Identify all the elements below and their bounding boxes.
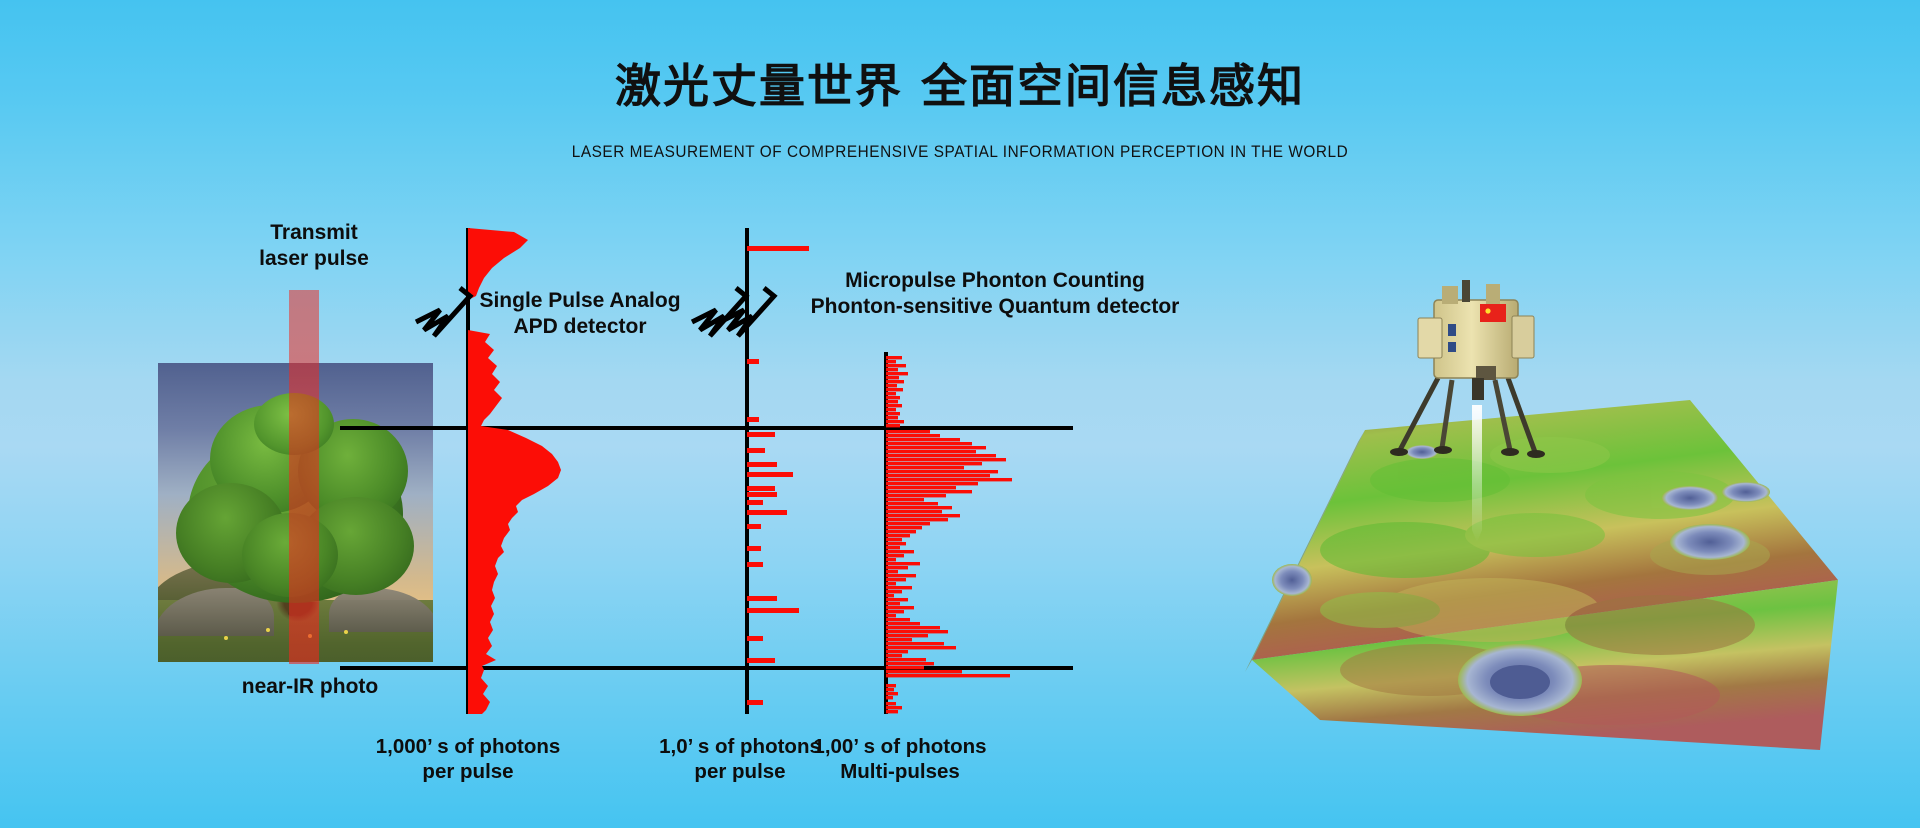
- histogram-bar: [886, 396, 900, 399]
- histogram-bar: [886, 514, 960, 517]
- caption-photons-per-pulse-a: 1,000’ s of photons per pulse: [338, 734, 598, 784]
- histogram-bar: [886, 490, 972, 493]
- histogram-bar: [886, 650, 908, 653]
- histogram-bar: [886, 526, 922, 529]
- crater: [1670, 524, 1750, 560]
- histogram-bar: [747, 524, 761, 529]
- histogram-bar: [747, 562, 763, 567]
- histogram-bar: [886, 538, 902, 541]
- histogram-bar: [747, 700, 763, 705]
- histogram-bar: [886, 522, 930, 525]
- histogram-bar: [747, 510, 787, 515]
- histogram-bar: [886, 658, 926, 661]
- histogram-bar: [886, 474, 990, 477]
- histogram-bar: [886, 482, 978, 485]
- lunar-lander-terrain-scene: [1190, 280, 1900, 750]
- histogram-bar: [886, 578, 906, 581]
- histogram-bar: [886, 662, 934, 665]
- histogram-bar: [886, 566, 908, 569]
- histogram-bar: [886, 420, 904, 423]
- histogram-bar: [886, 546, 900, 549]
- histogram-bar: [886, 372, 908, 375]
- histogram-bar: [886, 610, 904, 613]
- histogram-bar: [886, 506, 952, 509]
- histogram-bar: [747, 486, 775, 491]
- engine-plume: [1472, 405, 1482, 542]
- histogram-bar: [747, 432, 775, 437]
- histogram-bar: [747, 658, 775, 663]
- histogram-bar: [886, 706, 902, 709]
- histogram-bar: [886, 380, 904, 383]
- label-transmit-laser-pulse: Transmit laser pulse: [224, 220, 404, 271]
- histogram-bar: [886, 586, 912, 589]
- histogram-bar: [886, 498, 924, 501]
- axis-micropulse: [884, 352, 888, 714]
- histogram-bar: [886, 478, 1012, 481]
- page-title: 激光丈量世界 全面空间信息感知: [0, 50, 1920, 116]
- histogram-bar: [747, 636, 763, 641]
- histogram-bar: [886, 670, 962, 673]
- histogram-bar: [747, 492, 777, 497]
- histogram-bar: [886, 462, 982, 465]
- crater: [1662, 486, 1718, 510]
- histogram-bar: [886, 454, 996, 457]
- histogram-bar: [747, 472, 793, 477]
- histogram-bar: [886, 502, 938, 505]
- histogram-bar: [886, 458, 1006, 461]
- histogram-bar: [886, 634, 928, 637]
- histogram-bar: [886, 534, 910, 537]
- crater-floor: [1490, 665, 1550, 699]
- flower-dot: [266, 628, 270, 632]
- histogram-bar: [886, 518, 948, 521]
- histogram-bar: [886, 404, 902, 407]
- histogram-bar: [747, 462, 777, 467]
- histogram-bar: [886, 510, 942, 513]
- histogram-bar: [747, 596, 777, 601]
- histogram-bar: [747, 246, 809, 251]
- canopy-reference-line: [340, 426, 1073, 430]
- histogram-bar: [886, 598, 908, 601]
- label-near-ir-photo: near-IR photo: [210, 674, 410, 700]
- histogram-bar: [886, 388, 903, 391]
- histogram-bar: [886, 654, 902, 657]
- histogram-bar: [886, 626, 940, 629]
- stone-wall-right: [329, 588, 433, 632]
- histogram-bar: [886, 466, 964, 469]
- histogram-bar: [886, 646, 956, 649]
- histogram-bar: [886, 562, 920, 565]
- histogram-bar: [886, 590, 902, 593]
- histogram-bar: [886, 446, 986, 449]
- histogram-bar: [886, 554, 904, 557]
- crater: [1272, 564, 1312, 596]
- histogram-bar: [886, 412, 900, 415]
- histogram-bar: [886, 642, 944, 645]
- histogram-bar: [886, 494, 946, 497]
- label-micropulse-photon-counting: Micropulse Phonton Counting Phonton-sens…: [765, 268, 1225, 319]
- histogram-bar: [886, 602, 900, 605]
- histogram-bar: [886, 470, 998, 473]
- histogram-bar: [886, 486, 956, 489]
- histogram-bar: [886, 638, 912, 641]
- histogram-bar: [886, 356, 902, 359]
- histogram-bar: [886, 438, 960, 441]
- histogram-bar: [886, 364, 906, 367]
- histogram-bar: [747, 608, 799, 613]
- histogram-bar: [886, 550, 914, 553]
- crater: [1722, 482, 1770, 502]
- poster-canvas: 激光丈量世界 全面空间信息感知 LASER MEASUREMENT OF COM…: [0, 0, 1920, 828]
- flower-dot: [344, 630, 348, 634]
- histogram-bar: [886, 434, 940, 437]
- histogram-bar: [886, 430, 930, 433]
- histogram-bar: [886, 622, 920, 625]
- axis-low-count: [745, 228, 749, 714]
- histogram-bar: [886, 674, 1010, 677]
- histogram-bar: [747, 546, 761, 551]
- histogram-bar: [886, 574, 916, 577]
- histogram-bar: [886, 542, 906, 545]
- histogram-bar: [886, 450, 976, 453]
- page-subtitle: LASER MEASUREMENT OF COMPREHENSIVE SPATI…: [67, 143, 1853, 162]
- histogram-bar: [886, 606, 914, 609]
- laser-beam-icon: [289, 290, 319, 664]
- flower-dot: [224, 636, 228, 640]
- ground-reference-line: [340, 666, 1073, 670]
- histogram-bar: [886, 630, 948, 633]
- histogram-bar: [747, 500, 763, 505]
- histogram-bar: [747, 448, 765, 453]
- label-single-pulse-analog: Single Pulse Analog APD detector: [430, 288, 730, 339]
- histogram-bar: [886, 442, 972, 445]
- crater: [1406, 445, 1438, 459]
- histogram-bar: [886, 530, 916, 533]
- histogram-bar: [886, 618, 910, 621]
- caption-photons-multi-pulses: 1,00’ s of photons Multi-pulses: [770, 734, 1030, 784]
- micropulse-photon-counting-histogram: [886, 356, 1012, 713]
- china-flag-icon: [1480, 304, 1506, 322]
